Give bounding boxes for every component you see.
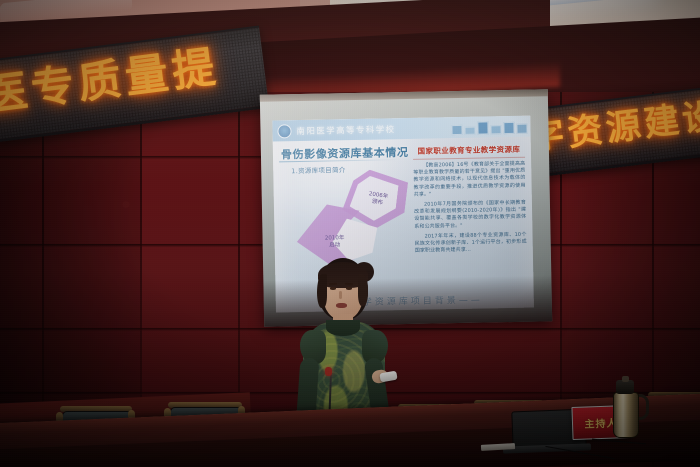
presenter-mouth — [336, 303, 347, 308]
thumbnail-icon — [477, 121, 488, 134]
polygon-label-left-line2: 启动 — [329, 242, 340, 248]
polygon-label-left: 2010年 启动 — [315, 235, 355, 250]
thermos-knob — [622, 376, 629, 382]
conference-presentation-photo: 医专质量提 字资源建设 南阳医学高等专科学校 骨伤影像资源库 — [0, 0, 700, 467]
presenter-hair-side — [317, 274, 327, 308]
thumbnail-icon — [451, 125, 462, 135]
slide-right-column: 国家职业教育专业教学资源库 【教高2006】16号《教育部关于全面提高高等职业教… — [413, 144, 527, 259]
slide-header-bar: 南阳医学高等专科学校 — [272, 116, 530, 142]
thermos-body — [613, 392, 639, 438]
slide-school-name: 南阳医学高等专科学校 — [296, 123, 395, 137]
thumbnail-icon — [464, 127, 475, 135]
presenter-collar — [326, 320, 360, 336]
presenter-nose — [339, 291, 342, 299]
presenter-eye — [330, 287, 336, 290]
school-logo-icon — [277, 124, 291, 138]
thumbnail-icon — [516, 124, 527, 134]
slide-right-heading-rule — [413, 157, 525, 160]
slide-right-heading: 国家职业教育专业教学资源库 — [413, 144, 525, 157]
polygon-label-left-line1: 2010年 — [325, 235, 345, 241]
slide-header-thumbnails — [451, 119, 527, 135]
thermos-cap — [616, 380, 634, 394]
slide-paragraph: 2010年7月国务院颁布的《国家中长期教育改革和发展规划纲要(2010-2020… — [414, 200, 527, 231]
thumbnail-icon — [490, 125, 501, 134]
polygon-label-right-line2: 颁布 — [371, 199, 383, 207]
slide-paragraph: 【教高2006】16号《教育部关于全面提高高等职业教育教学质量的若干意见》提出 … — [413, 161, 526, 199]
thumbnail-icon — [503, 122, 514, 134]
slide-paragraph: 2017年年末，建设88个专业资源库、10个民族文化传承创新子库、1个运行平台，… — [414, 232, 526, 256]
presenter-eye — [346, 287, 352, 290]
microphone-head-icon — [325, 367, 332, 376]
presenter-hair-side — [358, 274, 368, 306]
